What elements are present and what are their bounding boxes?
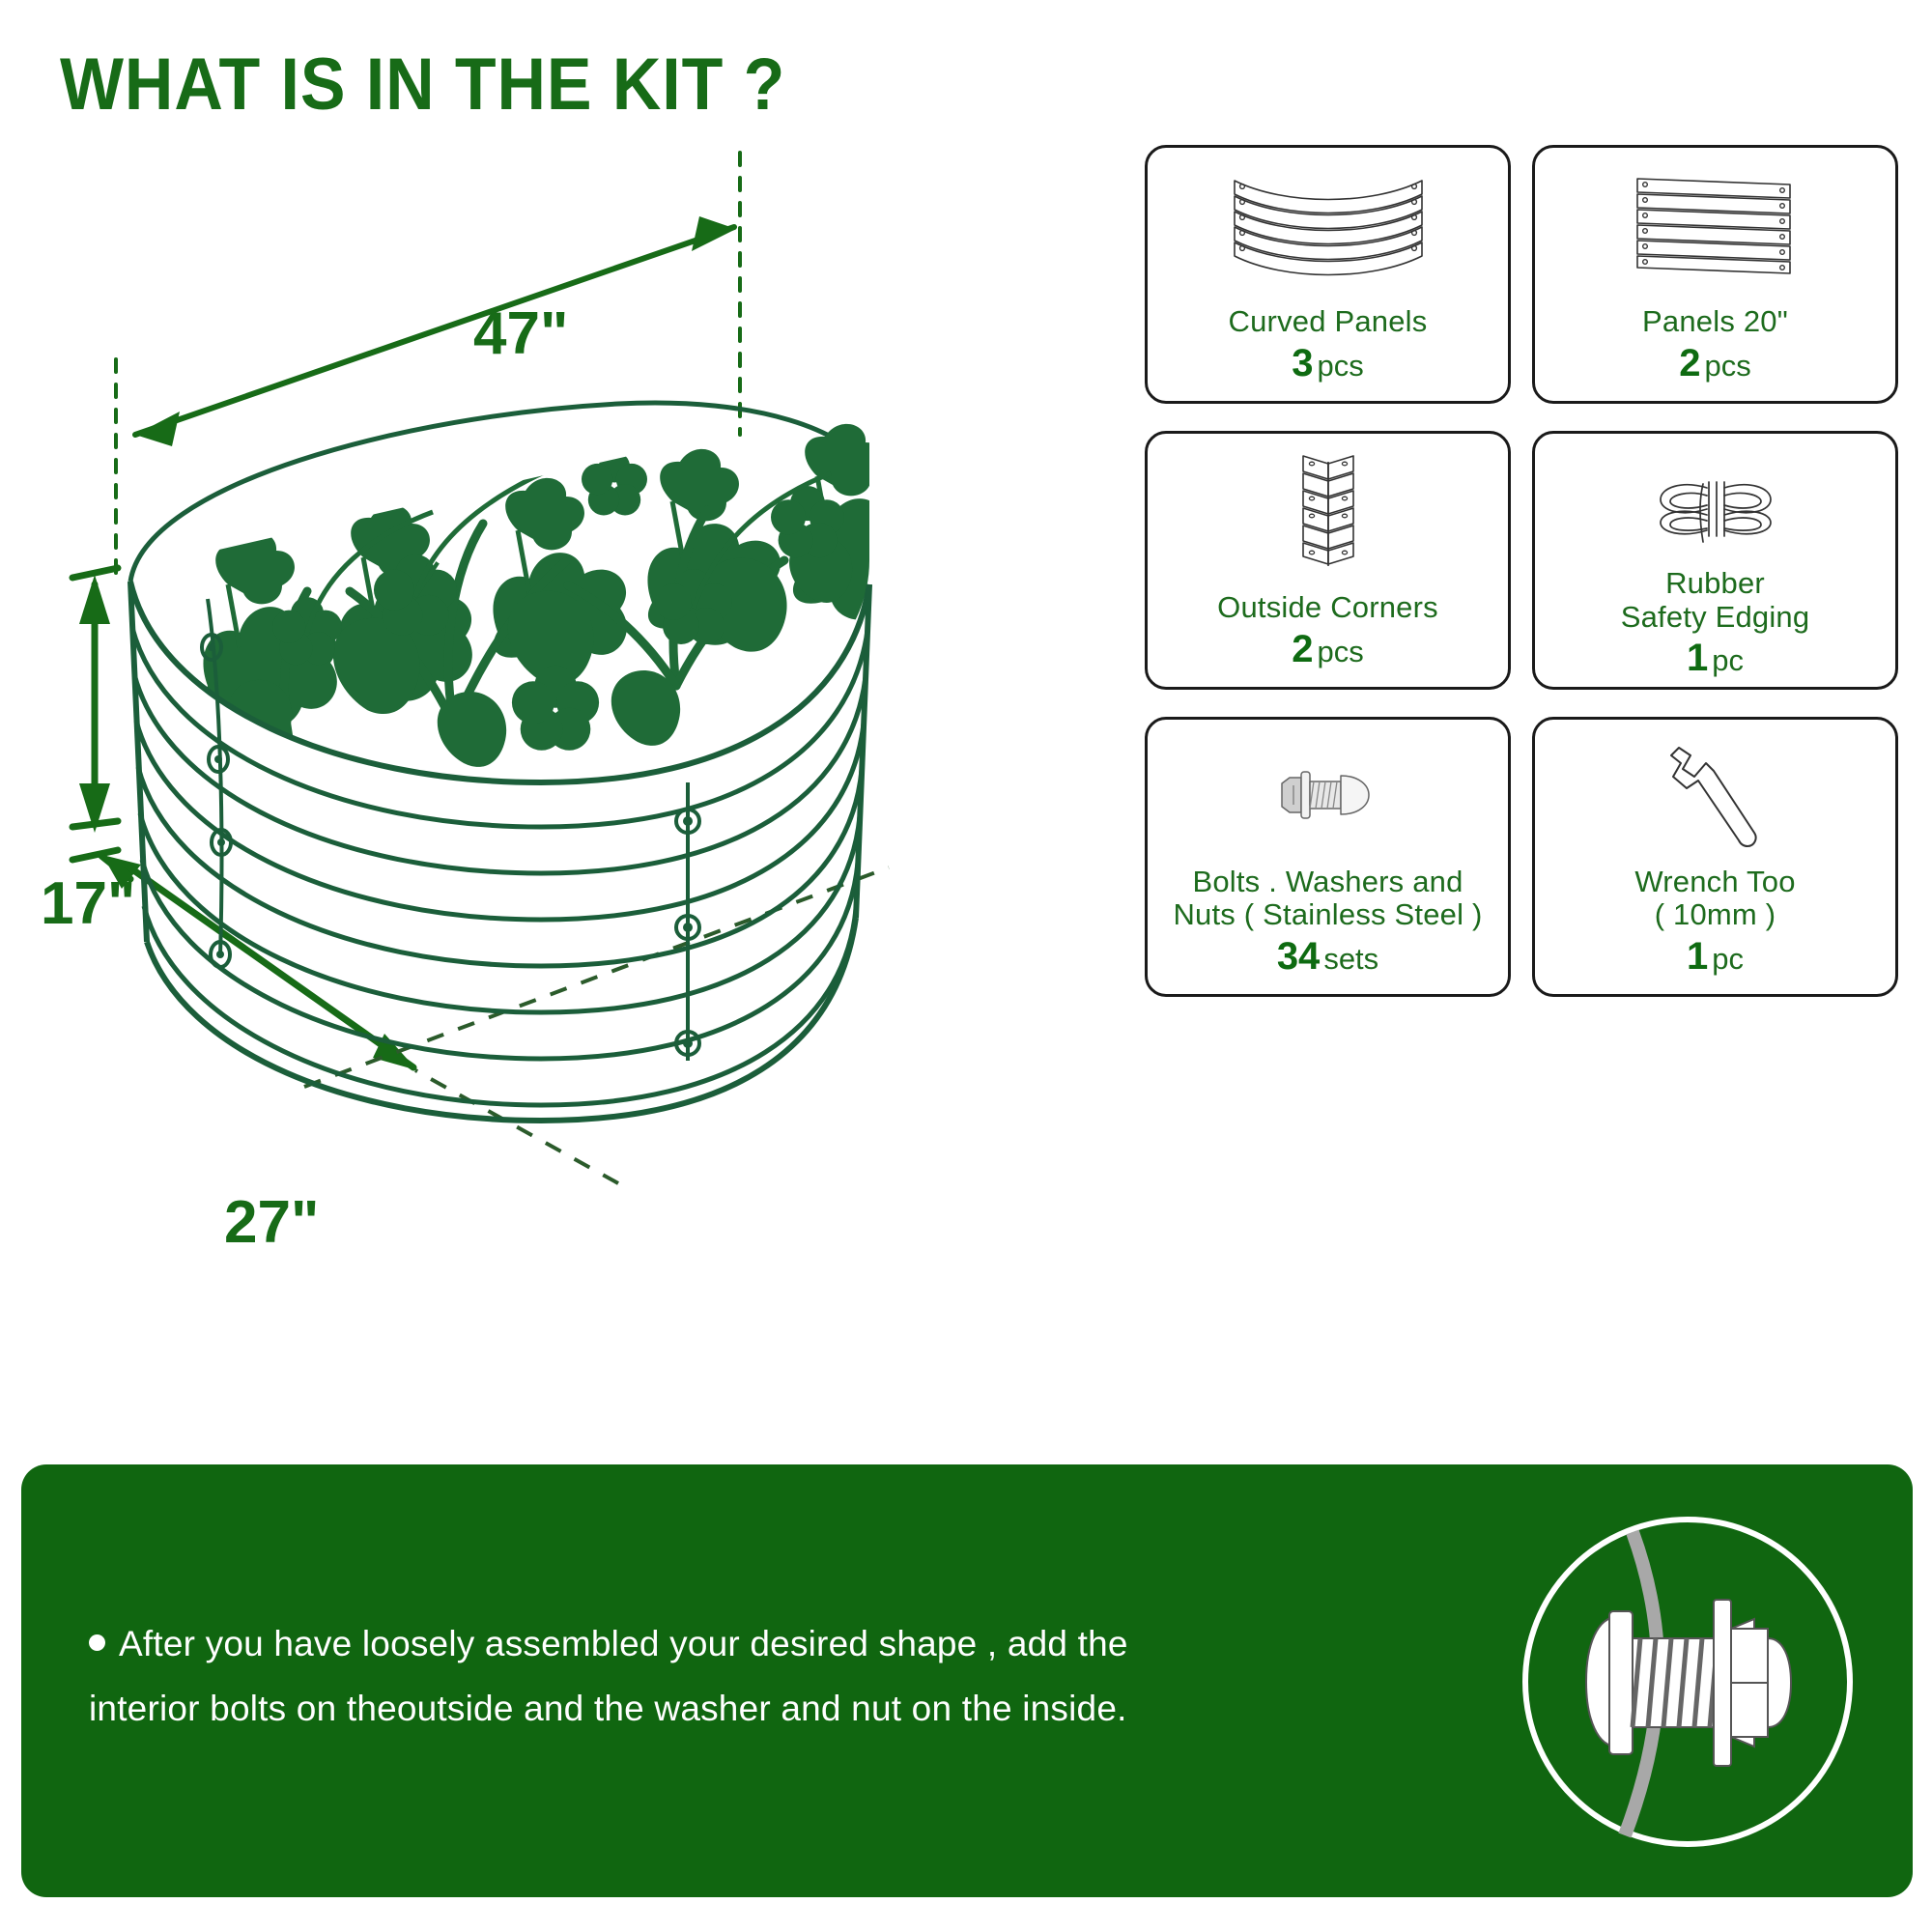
- kit-contents-grid: Curved Panels 3pcs: [1145, 145, 1898, 997]
- kit-card-curved-panels[interactable]: Curved Panels 3pcs: [1145, 145, 1511, 404]
- dimension-label-length: 47": [473, 299, 568, 368]
- dimension-label-height: 17": [41, 869, 135, 938]
- dimension-label-width: 27": [224, 1188, 319, 1257]
- kit-item-unit: pc: [1712, 643, 1744, 677]
- kit-item-unit: pcs: [1318, 349, 1364, 383]
- kit-item-count: 34sets: [1155, 934, 1500, 979]
- kit-item-count-value: 3: [1292, 342, 1313, 384]
- kit-item-count-value: 1: [1687, 637, 1708, 679]
- kit-item-unit: pcs: [1705, 349, 1751, 383]
- curved-panels-icon: [1217, 165, 1439, 281]
- kit-item-count-value: 2: [1679, 342, 1700, 384]
- kit-card-panels-20[interactable]: Panels 20" 2pcs: [1532, 145, 1898, 404]
- kit-item-count: 3pcs: [1155, 341, 1500, 385]
- straight-panels-icon: [1624, 165, 1807, 281]
- page-title: WHAT IS IN THE KIT ?: [60, 43, 785, 127]
- assembly-note-body: After you have loosely assembled your de…: [89, 1624, 1128, 1728]
- kit-item-unit: sets: [1323, 942, 1378, 976]
- kit-card-outside-corners[interactable]: Outside Corners 2pcs: [1145, 431, 1511, 690]
- bolt-assembly-detail-icon: [1509, 1503, 1866, 1861]
- kit-item-count-value: 34: [1277, 935, 1321, 978]
- kit-item-label: Curved Panels: [1155, 305, 1500, 339]
- bullet-icon: [89, 1634, 105, 1651]
- kit-item-count-value: 1: [1687, 935, 1708, 978]
- rubber-edging-icon: [1643, 451, 1788, 567]
- kit-item-label: Rubber Safety Edging: [1543, 567, 1888, 634]
- kit-item-label: Panels 20": [1543, 305, 1888, 339]
- assembly-note-text: After you have loosely assembled your de…: [89, 1611, 1229, 1742]
- kit-item-unit: pcs: [1318, 635, 1364, 668]
- kit-item-label: Bolts . Washers and Nuts ( Stainless Ste…: [1155, 866, 1500, 932]
- kit-card-wrench-tool[interactable]: Wrench Too ( 10mm ) 1pc: [1532, 717, 1898, 997]
- kit-card-rubber-safety-edging[interactable]: Rubber Safety Edging 1pc: [1532, 431, 1898, 690]
- kit-item-count: 1pc: [1543, 934, 1888, 979]
- kit-card-bolts-washers-nuts[interactable]: Bolts . Washers and Nuts ( Stainless Ste…: [1145, 717, 1511, 997]
- kit-item-label: Wrench Too ( 10mm ): [1543, 866, 1888, 932]
- kit-item-unit: pc: [1712, 942, 1744, 976]
- assembly-note-banner: After you have loosely assembled your de…: [21, 1464, 1913, 1897]
- kit-item-count: 2pcs: [1155, 627, 1500, 671]
- bolt-washer-nut-icon: [1270, 737, 1386, 853]
- kit-item-count: 2pcs: [1543, 341, 1888, 385]
- wrench-icon: [1658, 737, 1774, 853]
- outside-corner-icon: [1284, 451, 1373, 567]
- kit-item-label: Outside Corners: [1155, 591, 1500, 625]
- kit-item-count-value: 2: [1292, 628, 1313, 670]
- kit-item-count: 1pc: [1543, 636, 1888, 680]
